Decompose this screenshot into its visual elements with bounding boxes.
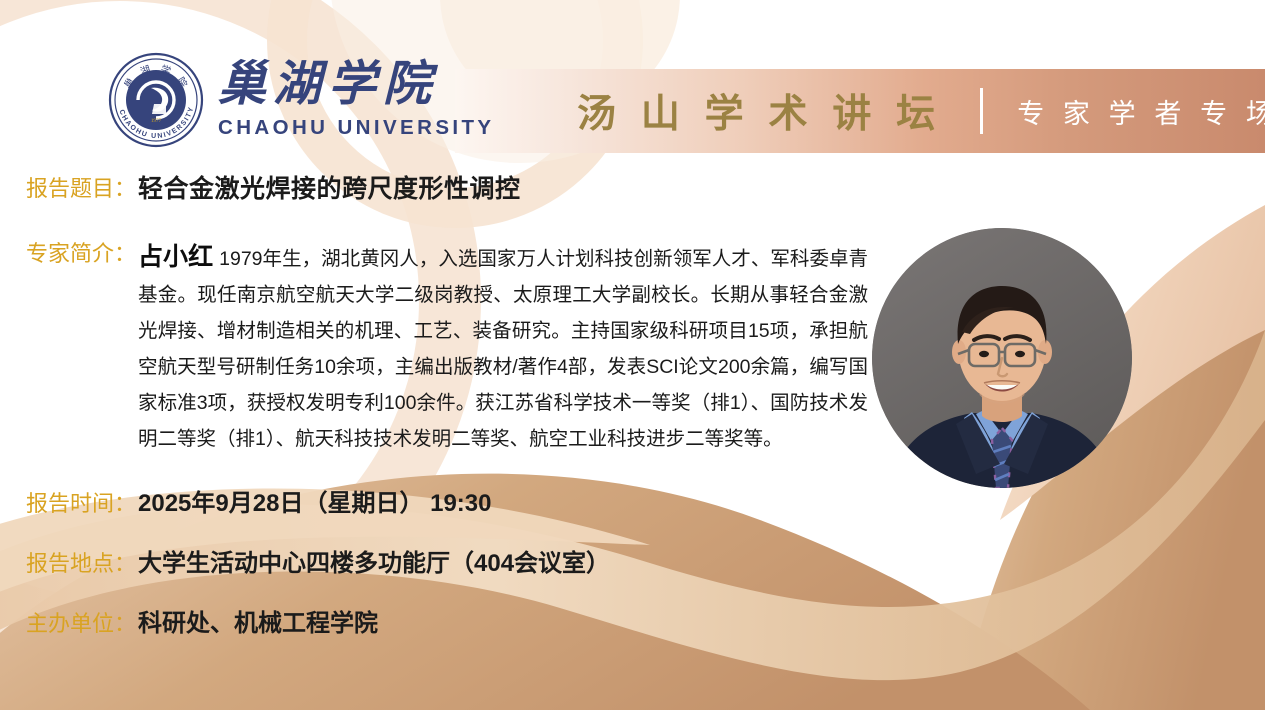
logo-name-en: CHAOHU UNIVERSITY (218, 118, 494, 139)
speaker-portrait (872, 228, 1132, 488)
report-time-row: 报告时间： 2025年9月28日（星期日） 19:30 (26, 489, 886, 519)
report-time-value: 2025年9月28日（星期日） 19:30 (138, 489, 491, 519)
report-venue-value: 大学生活动中心四楼多功能厅（404会议室） (138, 549, 610, 579)
speaker-bio-text: 1979年生，湖北黄冈人，入选国家万人计划科技创新领军人才、军科委卓青基金。现任… (138, 248, 868, 450)
banner-main-title: 汤 山 学 术 讲 坛 (577, 83, 942, 139)
logo-name-cn: 巢湖学院 (218, 61, 438, 109)
report-title-label: 报告题目： (26, 174, 136, 204)
event-banner: 汤 山 学 术 讲 坛 专 家 学 者 专 场 (455, 69, 1265, 153)
poster-header: 汤 山 学 术 讲 坛 专 家 学 者 专 场 1977 巢 湖 学 院 (0, 0, 1265, 160)
report-time-label: 报告时间： (26, 489, 136, 519)
organizer-row: 主办单位： 科研处、机械工程学院 (26, 609, 886, 639)
poster-content: 报告题目： 轻合金激光焊接的跨尺度形性调控 专家简介： 占小红1979年生，湖北… (26, 170, 886, 639)
logo-wordmark: 巢湖学院 CHAOHU UNIVERSITY (218, 61, 494, 139)
report-title-value: 轻合金激光焊接的跨尺度形性调控 (138, 174, 521, 204)
speaker-name: 占小红 (138, 243, 213, 271)
report-title-row: 报告题目： 轻合金激光焊接的跨尺度形性调控 (26, 174, 886, 204)
banner-separator (980, 88, 983, 134)
university-seal-icon: 1977 巢 湖 学 院 CHAOHU UNIVERSITY (108, 52, 204, 148)
report-venue-label: 报告地点： (26, 549, 136, 579)
organizer-label: 主办单位： (26, 609, 136, 639)
organizer-value: 科研处、机械工程学院 (138, 609, 378, 639)
poster-canvas: 汤 山 学 术 讲 坛 专 家 学 者 专 场 1977 巢 湖 学 院 (0, 0, 1265, 710)
speaker-bio-label: 专家简介： (26, 239, 136, 269)
banner-subtitle: 专 家 学 者 专 场 (1017, 92, 1265, 131)
report-venue-row: 报告地点： 大学生活动中心四楼多功能厅（404会议室） (26, 549, 886, 579)
speaker-bio-body: 占小红1979年生，湖北黄冈人，入选国家万人计划科技创新领军人才、军科委卓青基金… (138, 239, 868, 457)
speaker-bio-row: 专家简介： 占小红1979年生，湖北黄冈人，入选国家万人计划科技创新领军人才、军… (26, 239, 886, 457)
university-logo: 1977 巢 湖 学 院 CHAOHU UNIVERSITY 巢湖学院 CHAO… (108, 52, 494, 148)
svg-text:1977: 1977 (151, 118, 162, 124)
